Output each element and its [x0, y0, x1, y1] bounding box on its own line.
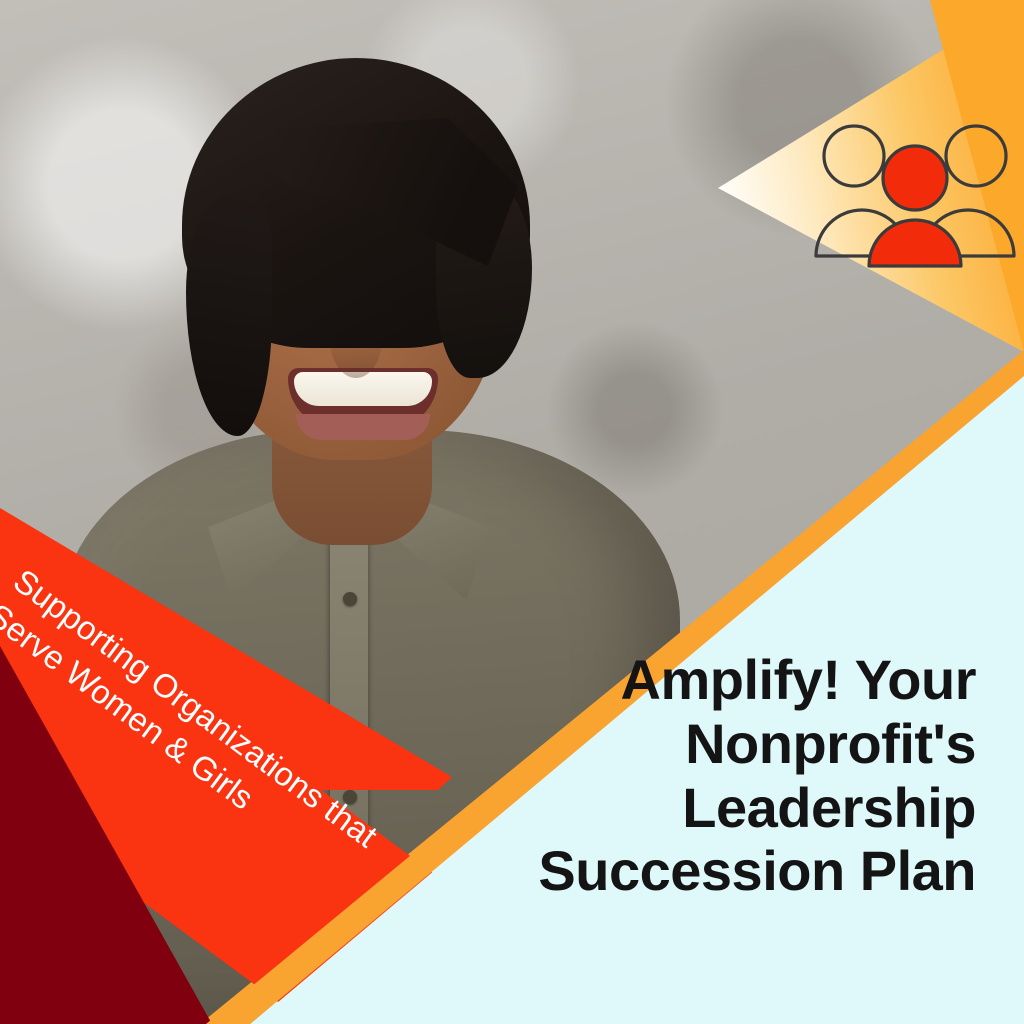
headline: Amplify! Your Nonprofit's Leadership Suc…	[506, 648, 976, 903]
person-head-right	[946, 126, 1006, 186]
person-body-center	[869, 220, 961, 266]
three-people-group-icon	[812, 118, 1018, 276]
person-head-center	[883, 146, 947, 210]
person-head-left	[824, 126, 884, 186]
promo-poster: Supporting Organizations that Serve Wome…	[0, 0, 1024, 1024]
